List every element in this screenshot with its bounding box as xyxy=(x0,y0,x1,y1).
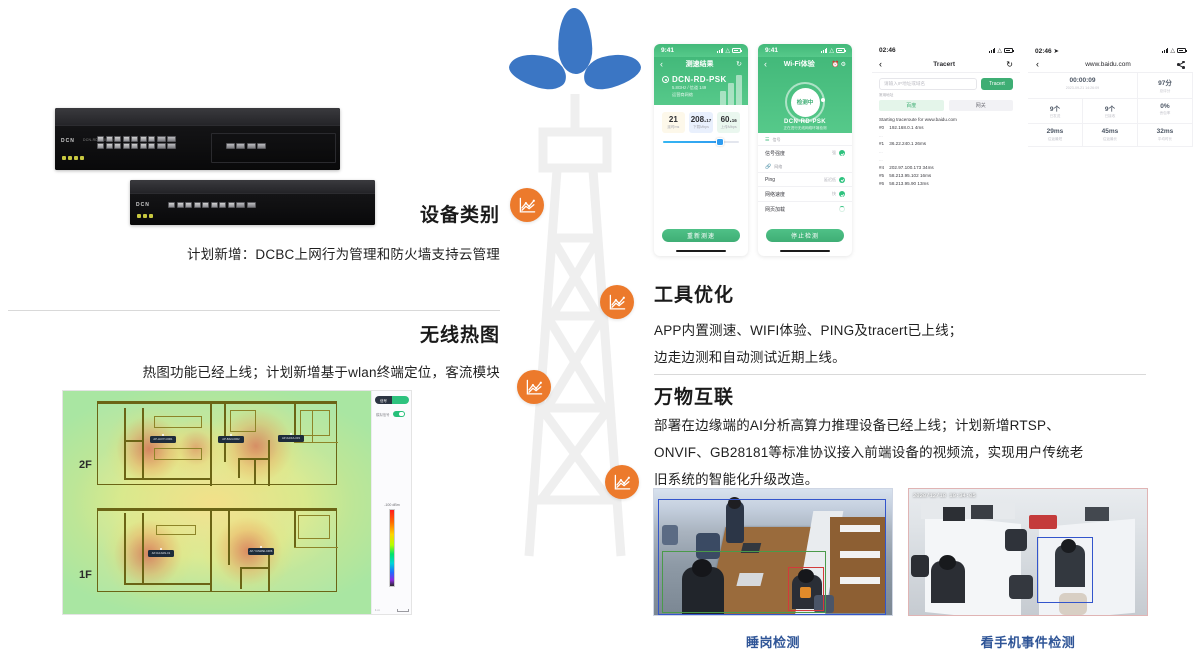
ap-marker: AP-HUIYI-0001 xyxy=(150,436,176,443)
chart-badge-4 xyxy=(605,465,639,499)
section-body-device-category: 计划新增：DCBC上网行为管理和防火墙支持云管理 xyxy=(0,242,500,268)
ap-label: AP-YUNWEI-0486 xyxy=(250,550,273,553)
section-title-tool-optimization: 工具优化 xyxy=(654,280,734,307)
divider-left-1 xyxy=(8,310,500,311)
chart-badge-1 xyxy=(510,188,544,222)
section-body-tool-line-2: 边走边测和自动测试近期上线。 xyxy=(654,345,1184,371)
heatmap-toggle-coverage[interactable] xyxy=(392,396,409,404)
ap-marker: AP-BAN-0002 xyxy=(218,436,244,443)
heatmap-canvas: AP-HUIYI-0001 AP-BAN-0002 AP-KAIFA-003 2… xyxy=(63,391,373,615)
simulate-signal-label: 模拟信号 xyxy=(376,412,390,417)
heatmap-toggle-signal[interactable]: 信号 xyxy=(375,396,392,404)
section-body-tool-line-1: APP内置测速、WIFI体验、PING及tracert已上线； xyxy=(654,318,1184,344)
divider-right-1 xyxy=(654,374,1146,375)
chart-badge-3 xyxy=(517,370,551,404)
left-column: DCN DCN-RD-3000 series xyxy=(0,0,545,656)
simulate-signal-toggle[interactable] xyxy=(393,411,405,417)
heatmap-legend: -100 dBm xyxy=(380,503,404,587)
section-title-wireless-heatmap: 无线热图 xyxy=(0,320,500,347)
section-body-iot-line-2: ONVIF、GB28181等标准协议接入前端设备的视频流，实现用户传统老 xyxy=(654,440,1194,466)
line-chart-icon xyxy=(613,473,632,492)
photo-sleep-detection xyxy=(653,488,893,616)
photo-caption-phone-usage: 看手机事件检测 xyxy=(908,632,1148,651)
section-title-device-category: 设备类别 xyxy=(0,200,500,227)
section-body-wireless-heatmap: 热图功能已经上线；计划新增基于wlan终端定位，客流模块 xyxy=(0,360,500,386)
scale-bar xyxy=(397,609,409,612)
line-chart-icon xyxy=(608,293,627,312)
simulate-signal-row[interactable]: 模拟信号 xyxy=(376,411,405,417)
heatmap-scale: 1 m xyxy=(375,608,409,612)
ap-label: AP-DAJIAN-01 xyxy=(152,552,171,555)
chart-badge-2 xyxy=(600,285,634,319)
switch-port-bank xyxy=(97,136,176,150)
video-timestamp: 2020/12/18 10:34:05 xyxy=(913,492,976,499)
line-chart-icon xyxy=(518,196,537,215)
detection-box-alert xyxy=(788,567,824,611)
legend-gradient-bar xyxy=(389,509,395,587)
ap-label: AP-KAIFA-003 xyxy=(282,437,300,440)
ap-marker: AP-KAIFA-003 xyxy=(278,435,304,442)
section-body-iot-line-1: 部署在边缘端的AI分析高算力推理设备已经上线；计划新增RTSP、 xyxy=(654,413,1194,439)
ap-marker: AP-YUNWEI-0486 xyxy=(248,548,274,555)
tower-graphic xyxy=(495,0,655,530)
floorplan-2f: AP-HUIYI-0001 AP-BAN-0002 AP-KAIFA-003 xyxy=(97,401,337,485)
floorplan-1f: AP-DAJIAN-01 AP-YUNWEI-0486 xyxy=(97,508,337,592)
switch-expansion-module xyxy=(211,133,336,163)
legend-top-label: -100 dBm xyxy=(380,503,404,507)
line-chart-icon xyxy=(525,378,544,397)
scale-label: 1 m xyxy=(375,608,380,612)
ap-label: AP-BAN-0002 xyxy=(222,438,239,441)
photo-phone-usage-detection: 2020/12/18 10:34:05 xyxy=(908,488,1148,616)
slide-root: DCN DCN-RD-3000 series xyxy=(0,0,1200,656)
heatmap-side-panel: 信号 模拟信号 -100 dBm 1 m xyxy=(371,391,411,615)
heatmap-view-toggle[interactable]: 信号 xyxy=(375,396,409,404)
detection-box-phone-usage xyxy=(1037,537,1093,603)
ap-label: AP-HUIYI-0001 xyxy=(153,438,172,441)
switch-led-strip xyxy=(62,156,84,160)
photo-caption-sleep: 睡岗检测 xyxy=(653,632,893,651)
ap-marker: AP-DAJIAN-01 xyxy=(148,550,174,557)
section-title-iot: 万物互联 xyxy=(654,382,734,409)
floor-label-2f: 2F xyxy=(79,459,92,471)
switch-brand-logo: DCN xyxy=(61,138,75,144)
wireless-heatmap-figure: AP-HUIYI-0001 AP-BAN-0002 AP-KAIFA-003 2… xyxy=(62,390,412,615)
floor-label-1f: 1F xyxy=(79,569,92,581)
switch-device-image-large: DCN DCN-RD-3000 series xyxy=(55,108,340,170)
